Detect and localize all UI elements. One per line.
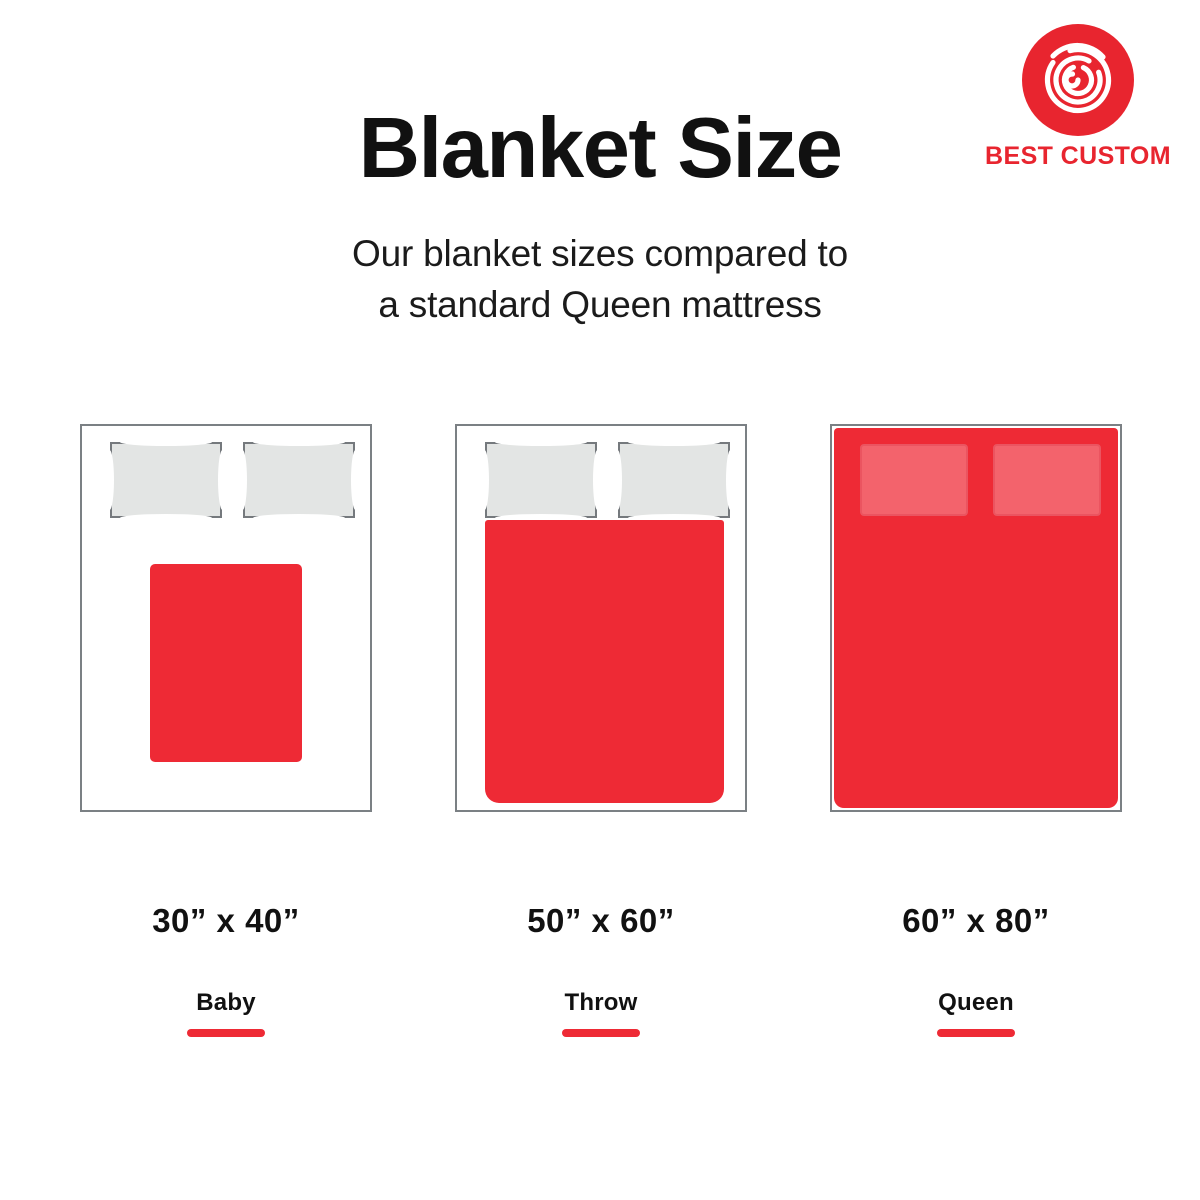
size-label-queen: 60” x 80” Queen: [830, 904, 1122, 1037]
pillow-left-icon: [110, 442, 222, 518]
pillow-left-icon: [485, 442, 597, 518]
page-subtitle: Our blanket sizes compared to a standard…: [0, 228, 1200, 330]
blanket-baby: [150, 564, 302, 762]
subtitle-line-1: Our blanket sizes compared to: [0, 228, 1200, 279]
bed-baby: [80, 424, 372, 812]
size-name: Queen: [830, 991, 1122, 1015]
size-name: Throw: [455, 991, 747, 1015]
size-name: Baby: [80, 991, 372, 1015]
size-dimensions: 30” x 40”: [80, 904, 372, 937]
blanket-queen: [834, 428, 1118, 808]
underline-accent: [187, 1029, 265, 1037]
size-label-throw: 50” x 60” Throw: [455, 904, 747, 1037]
pillow-right-icon: [993, 444, 1101, 516]
bed-diagram-row: [0, 424, 1200, 814]
underline-accent: [937, 1029, 1015, 1037]
bed-throw: [455, 424, 747, 812]
subtitle-line-2: a standard Queen mattress: [0, 279, 1200, 330]
page-title: Blanket Size: [0, 104, 1200, 193]
pillow-right-icon: [243, 442, 355, 518]
blanket-throw: [485, 520, 724, 803]
size-label-row: 30” x 40” Baby 50” x 60” Throw 60” x 80”…: [0, 904, 1200, 1044]
underline-accent: [562, 1029, 640, 1037]
bed-queen: [830, 424, 1122, 812]
size-dimensions: 50” x 60”: [455, 904, 747, 937]
size-label-baby: 30” x 40” Baby: [80, 904, 372, 1037]
size-dimensions: 60” x 80”: [830, 904, 1122, 937]
pillow-left-icon: [860, 444, 968, 516]
pillow-right-icon: [618, 442, 730, 518]
